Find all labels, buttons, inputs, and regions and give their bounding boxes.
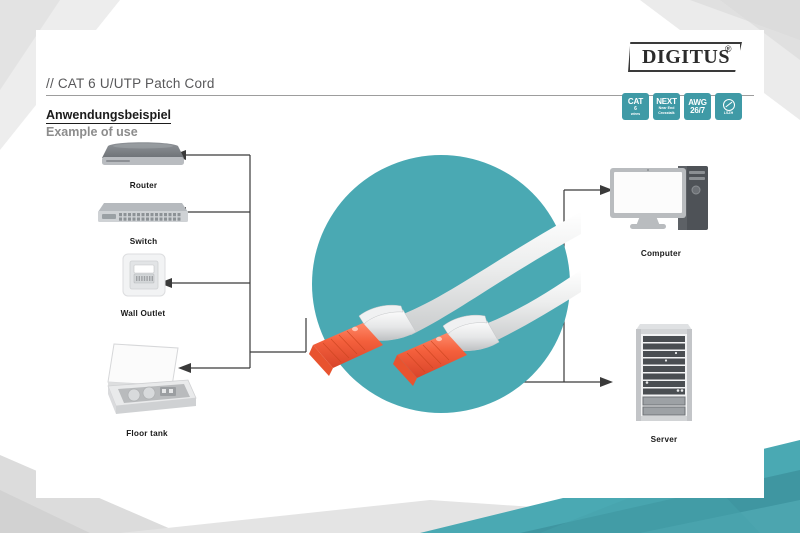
device-server: Server: [614, 318, 714, 444]
badge-line3: LSZH: [724, 112, 733, 116]
floor-tank-icon: [92, 342, 202, 420]
screenshot-canvas: DIGITUS® // CAT 6 U/UTP Patch Cord CAT 6…: [0, 0, 800, 533]
badge-line3: wires: [631, 113, 640, 117]
wall-outlet-icon: [98, 252, 188, 300]
section-title-de: Anwendungsbeispiel: [46, 108, 171, 124]
no-halogen-icon: [723, 99, 735, 111]
registered-mark: ®: [725, 45, 732, 54]
computer-icon: [606, 160, 716, 240]
content-panel: DIGITUS® // CAT 6 U/UTP Patch Cord CAT 6…: [36, 30, 764, 498]
lszh-badge: LSZH: [715, 93, 742, 120]
device-switch: Switch: [96, 198, 191, 246]
device-label: Switch: [96, 237, 191, 246]
device-computer: Computer: [606, 160, 716, 258]
device-label: Server: [614, 435, 714, 444]
section-title-en: Example of use: [46, 125, 138, 139]
server-icon: [614, 318, 714, 426]
switch-icon: [96, 198, 191, 228]
badge-line3: Crosstalk: [658, 112, 674, 116]
cat6-badge: CAT 6 wires: [622, 93, 649, 120]
awg-badge: AWG 26/7: [684, 93, 711, 120]
device-label: Computer: [606, 249, 716, 258]
badge-line2: 26/7: [690, 107, 705, 115]
badge-line1: NEXT: [656, 98, 677, 106]
patch-cord-illustration: [251, 140, 581, 430]
badge-line1: CAT: [628, 98, 643, 106]
device-label: Floor tank: [92, 429, 202, 438]
page-title: // CAT 6 U/UTP Patch Cord: [46, 76, 754, 91]
badge-line2: 6: [634, 107, 637, 112]
device-wall-outlet: Wall Outlet: [98, 252, 188, 318]
device-floor-tank: Floor tank: [92, 342, 202, 438]
device-label: Wall Outlet: [98, 309, 188, 318]
next-badge: NEXT Near End Crosstalk: [653, 93, 680, 120]
certification-badges: CAT 6 wires NEXT Near End Crosstalk AWG …: [622, 93, 742, 120]
device-label: Router: [96, 181, 191, 190]
digitus-logo: DIGITUS®: [628, 42, 742, 72]
router-icon: [96, 138, 191, 172]
logo-text: DIGITUS: [642, 46, 730, 68]
device-router: Router: [96, 138, 191, 190]
